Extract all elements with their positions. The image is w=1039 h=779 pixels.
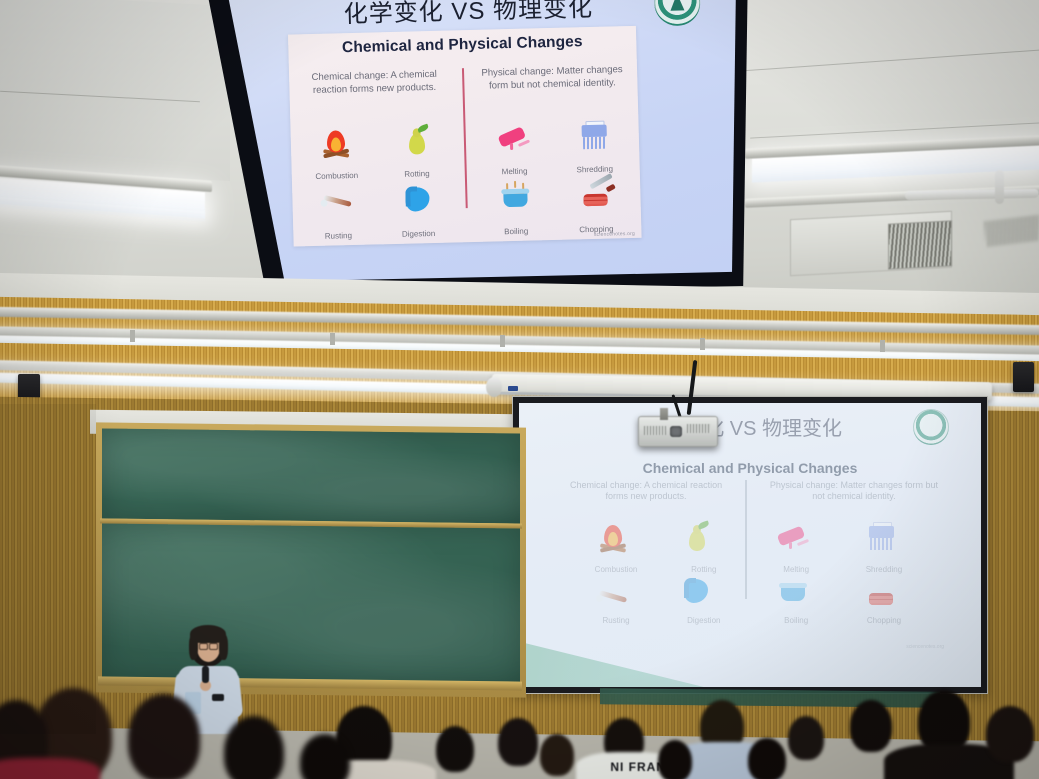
lecture-hall-photo: 化学变化 VS 物理变化 Chemical and Physical Chang… — [0, 0, 1039, 779]
projected-corner-accent — [519, 642, 704, 687]
lecturer-hair-side — [189, 634, 198, 660]
student-head — [748, 738, 786, 779]
lecturer-arm-right — [222, 671, 244, 719]
chalk-dust — [102, 523, 520, 683]
projected-label-combustion: Combustion — [574, 565, 657, 574]
lecturer-head — [191, 626, 225, 666]
item-label: Digestion — [378, 228, 458, 239]
item-label: Shredding — [555, 164, 635, 175]
item-rusting: Rusting — [297, 183, 379, 244]
projected-label-shredding: Shredding — [842, 565, 925, 574]
projector-vent — [644, 426, 666, 435]
projected-divider — [745, 480, 747, 599]
projected-watermark: sciencenotes.org — [906, 644, 944, 650]
campfire-icon — [315, 127, 356, 158]
lecturer-wristwatch — [212, 694, 224, 701]
boiling-pot-icon — [495, 182, 536, 213]
item-melting: Melting — [473, 119, 555, 180]
projection-screen-case-end — [486, 377, 502, 397]
projector-mount-arm — [660, 408, 668, 420]
column-divider — [462, 68, 468, 208]
wall-shadow-left — [0, 404, 96, 734]
student-head — [788, 716, 824, 760]
tube-mount — [880, 340, 885, 352]
university-seal-logo — [653, 0, 700, 26]
projected-label-boiling: Boiling — [755, 616, 838, 625]
projection-screen: 化 VS 物理变化 Chemical and Physical Changes … — [512, 396, 988, 694]
projected-label-digestion: Digestion — [662, 616, 745, 625]
chalkboard-upper-panel — [102, 428, 520, 523]
stomach-icon — [397, 184, 438, 215]
item-label: Melting — [474, 166, 554, 177]
source-watermark: sciencenotes.org — [594, 231, 635, 238]
ceiling-pipe-vertical — [995, 170, 1004, 204]
item-digestion: Digestion — [377, 181, 459, 242]
chemical-change-icons: Combustion Rotting Rusting — [295, 122, 459, 245]
projected-nail-icon — [593, 582, 633, 612]
student-head — [658, 740, 692, 779]
item-chopping: Chopping — [555, 177, 637, 238]
item-label: Combustion — [297, 171, 377, 182]
chemical-definition: Chemical change: A chemical reaction for… — [294, 69, 455, 98]
tube-mount — [130, 330, 135, 342]
student-head — [436, 726, 474, 772]
student-head — [498, 718, 538, 766]
item-label: Boiling — [476, 225, 556, 236]
tube-mount — [330, 333, 335, 345]
wall-speaker-right-upper — [1013, 362, 1034, 392]
projected-label-chopping: Chopping — [842, 616, 925, 625]
projected-campfire-icon — [593, 522, 633, 552]
student-shoulders — [0, 758, 100, 779]
student-head — [540, 734, 574, 776]
item-rotting: Rotting — [375, 122, 457, 183]
projected-university-logo — [913, 409, 949, 445]
student-head — [224, 716, 284, 779]
projected-label-rotting: Rotting — [662, 565, 745, 574]
projected-label-rusting: Rusting — [574, 616, 657, 625]
rotting-pear-icon — [396, 125, 437, 156]
item-shredding: Shredding — [553, 117, 635, 178]
lecturer-glasses-left — [199, 643, 208, 650]
projector-vent-right — [687, 424, 711, 433]
rusty-nail-icon — [317, 186, 358, 217]
projected-pear-icon — [676, 522, 716, 552]
projected-label-melting: Melting — [755, 565, 838, 574]
projection-screen-brand — [508, 386, 518, 391]
card-heading: Chemical and Physical Changes — [288, 32, 637, 59]
physical-change-icons: Melting Shredding — [473, 117, 637, 240]
projected-slide: 化 VS 物理变化 Chemical and Physical Changes … — [519, 403, 981, 687]
lecturer-hair-side-right — [219, 634, 228, 660]
projector-lens — [670, 426, 682, 437]
student-head — [128, 694, 200, 779]
chalkboard-lower-panel — [102, 523, 520, 683]
projected-card-heading: Chemical and Physical Changes — [556, 460, 944, 476]
handheld-microphone — [202, 666, 209, 683]
ac-vent-grille — [888, 220, 952, 269]
ceiling-projector — [638, 416, 718, 447]
item-boiling: Boiling — [475, 179, 557, 240]
ceiling-tv-display: 化学变化 VS 物理变化 Chemical and Physical Chang… — [193, 0, 751, 300]
projected-pot-icon — [773, 576, 813, 606]
melting-popsicle-icon — [493, 122, 534, 153]
item-combustion: Combustion — [295, 124, 377, 185]
tree-icon — [670, 0, 684, 11]
item-label: Rusting — [298, 230, 378, 241]
slide-info-card: Chemical and Physical Changes Chemical c… — [288, 26, 642, 247]
projected-physical-definition: Physical change: Matter changes form but… — [768, 480, 939, 503]
tube-mount — [500, 335, 505, 347]
tube-mount — [700, 338, 705, 350]
projected-shredder-icon — [861, 522, 901, 552]
projected-chemical-definition: Chemical change: A chemical reaction for… — [561, 480, 732, 503]
student-head — [850, 700, 892, 752]
student-head — [986, 706, 1034, 762]
chopping-meat-icon — [575, 179, 616, 210]
projected-popsicle-icon — [773, 522, 813, 552]
chalk-dust — [102, 428, 520, 523]
lecturer-glasses-right — [209, 643, 218, 650]
projected-meat-icon — [861, 579, 901, 609]
item-label: Rotting — [377, 169, 457, 180]
physical-definition: Physical change: Matter changes form but… — [472, 64, 633, 93]
paper-shredder-icon — [573, 120, 614, 151]
projected-stomach-icon — [676, 576, 716, 606]
